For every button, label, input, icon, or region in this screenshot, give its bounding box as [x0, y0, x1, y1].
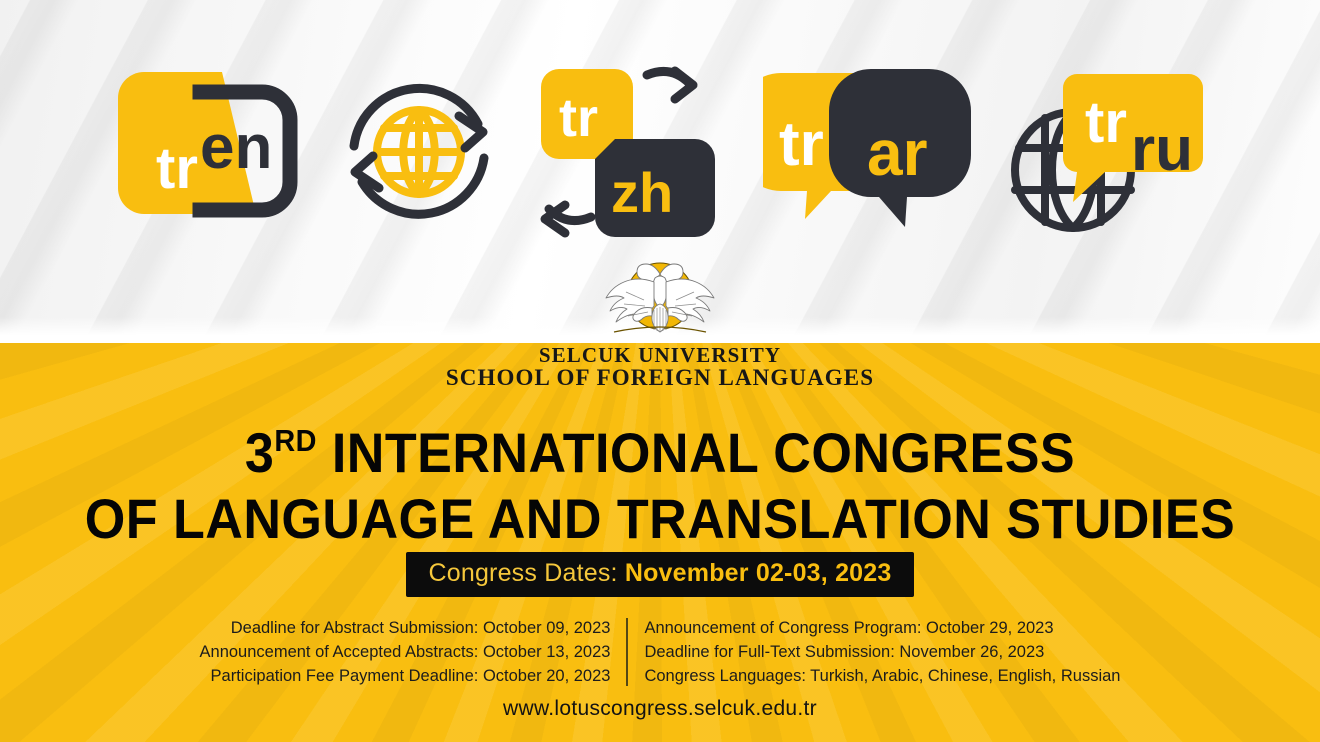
title-line-1: 3RD INTERNATIONAL CONGRESS: [46, 408, 1274, 486]
detail-congress-languages: Congress Languages: Turkish, Arabic, Chi…: [644, 664, 1120, 688]
details-right-column: Announcement of Congress Program: Octobe…: [628, 616, 1120, 688]
detail-abstract-deadline: Deadline for Abstract Submission: Octobe…: [200, 616, 611, 640]
congress-dates-value: November 02-03, 2023: [625, 559, 892, 587]
title-line-1-rest: INTERNATIONAL CONGRESS: [317, 421, 1075, 484]
svg-text:tr: tr: [779, 110, 824, 179]
svg-text:en: en: [200, 113, 272, 182]
svg-text:ru: ru: [1131, 115, 1193, 184]
details-left-column: Deadline for Abstract Submission: Octobe…: [200, 616, 627, 688]
language-icon-row: tr en: [0, 52, 1320, 252]
tr-ru-globe-bubble-icon: tr ru: [1001, 62, 1216, 242]
detail-program-announcement: Announcement of Congress Program: Octobe…: [644, 616, 1120, 640]
tr-en-badge-icon: tr en: [104, 62, 304, 242]
university-name: SELCUK UNIVERSITY: [0, 344, 1320, 366]
detail-fee-payment-deadline: Participation Fee Payment Deadline: Octo…: [200, 664, 611, 688]
icon-tr-en: tr en: [104, 62, 304, 242]
title-ordinal-number: 3: [245, 421, 274, 484]
icon-tr-zh: tr zh: [535, 57, 735, 247]
details-divider: [626, 618, 628, 686]
congress-dates-label: Congress Dates:: [428, 559, 624, 587]
tr-zh-boxes-icon: tr zh: [535, 57, 735, 247]
title-ordinal-suffix: RD: [274, 423, 317, 458]
congress-dates-wrapper: Congress Dates: November 02-03, 2023: [0, 552, 1320, 597]
icon-globe-refresh: [332, 62, 507, 242]
university-logo-block: SELCUK UNIVERSITY SCHOOL OF FOREIGN LANG…: [0, 252, 1320, 391]
icon-tr-ru: tr ru: [1001, 62, 1216, 242]
tr-ar-speech-bubbles-icon: tr ar: [763, 65, 973, 240]
title-line-2: OF LANGUAGE AND TRANSLATION STUDIES: [46, 486, 1274, 552]
detail-accepted-abstracts: Announcement of Accepted Abstracts: Octo…: [200, 640, 611, 664]
selcuk-university-double-headed-eagle-crest: [600, 252, 720, 342]
svg-text:ar: ar: [867, 117, 928, 189]
congress-title: 3RD INTERNATIONAL CONGRESS OF LANGUAGE A…: [0, 408, 1320, 552]
congress-dates-banner: Congress Dates: November 02-03, 2023: [406, 552, 913, 597]
deadline-details: Deadline for Abstract Submission: Octobe…: [0, 616, 1320, 688]
detail-fulltext-deadline: Deadline for Full-Text Submission: Novem…: [644, 640, 1120, 664]
globe-refresh-icon: [332, 62, 507, 242]
congress-poster: tr en: [0, 0, 1320, 742]
svg-text:tr: tr: [559, 88, 598, 148]
svg-text:tr: tr: [156, 136, 198, 201]
svg-text:tr: tr: [1085, 90, 1127, 155]
icon-tr-ar: tr ar: [763, 65, 973, 240]
congress-website-url[interactable]: www.lotuscongress.selcuk.edu.tr: [0, 697, 1320, 721]
svg-text:zh: zh: [611, 161, 673, 224]
school-name: SCHOOL OF FOREIGN LANGUAGES: [0, 366, 1320, 390]
